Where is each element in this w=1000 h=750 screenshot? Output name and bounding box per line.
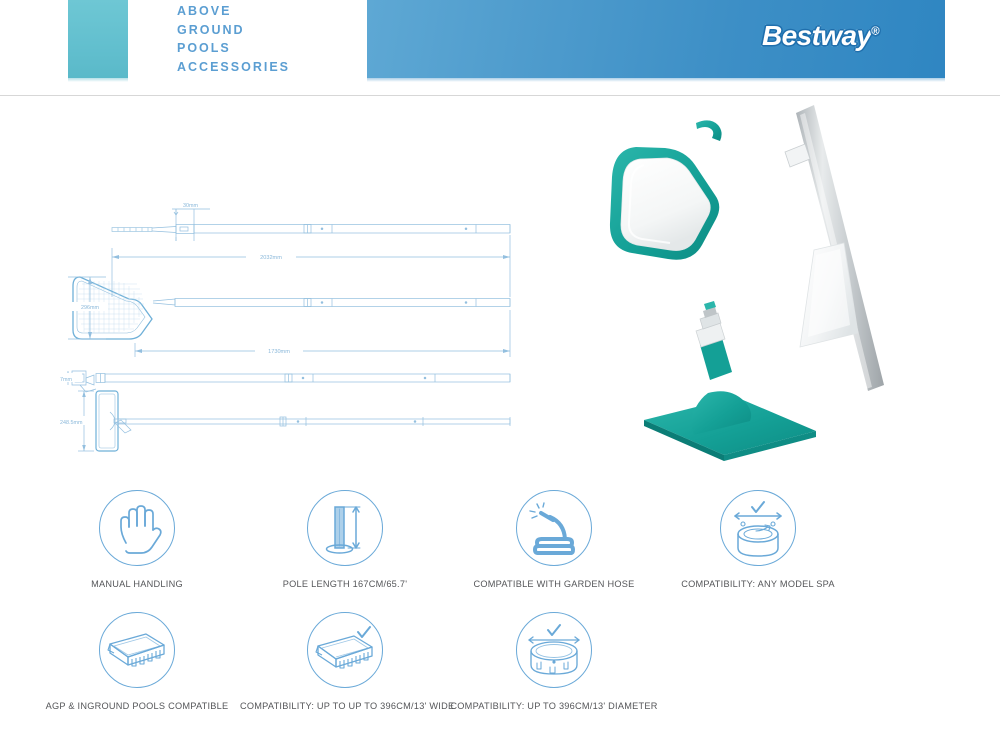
feature-pole-length: POLE LENGTH 167CM/65.7' — [240, 490, 450, 590]
product-spec-sheet: ABOVE GROUND POOLS ACCESSORIES Bestway® — [0, 0, 1000, 750]
spa-check-icon — [720, 490, 796, 566]
rectangular-pool-check-icon — [307, 612, 383, 688]
feature-spa-compatibility: COMPATIBILITY: ANY MODEL SPA — [653, 490, 863, 590]
dim-label-248-5mm: 248.5mm — [60, 420, 83, 426]
registered-trademark-icon: ® — [871, 26, 879, 38]
rectangular-pool-icon — [99, 612, 175, 688]
feature-caption: MANUAL HANDLING — [32, 578, 242, 590]
page-title-line-1: ABOVE — [177, 2, 357, 21]
feature-caption: COMPATIBLE WITH GARDEN HOSE — [449, 578, 659, 590]
feature-agp-inground-pools: AGP & INGROUND POOLS COMPATIBLE — [32, 612, 242, 712]
dim-label-30mm: 30mm — [183, 203, 198, 209]
feature-caption: COMPATIBILITY: UP TO 396CM/13' DIAMETER — [449, 700, 659, 712]
feature-caption: POLE LENGTH 167CM/65.7' — [240, 578, 450, 590]
page-title: ABOVE GROUND POOLS ACCESSORIES — [177, 2, 357, 76]
technical-drawing: 30mm 2032mm — [60, 185, 560, 465]
pole-length-icon — [307, 490, 383, 566]
garden-hose-icon — [516, 490, 592, 566]
vacuum-head-photo — [644, 301, 816, 461]
header-teal-band — [68, 0, 128, 78]
product-photo — [600, 95, 930, 485]
dim-label-2032mm: 2032mm — [260, 255, 282, 261]
feature-diameter-compatibility: COMPATIBILITY: UP TO 396CM/13' DIAMETER — [449, 612, 659, 712]
page-title-line-4: ACCESSORIES — [177, 58, 357, 77]
feature-width-compatibility: COMPATIBILITY: UP TO UP TO 396CM/13' WID… — [240, 612, 450, 712]
dim-label-1730mm: 1730mm — [268, 349, 290, 355]
dim-label-296mm: 296mm — [81, 305, 99, 311]
feature-manual-handling: MANUAL HANDLING — [32, 490, 242, 590]
bestway-logo: Bestway® — [762, 20, 879, 52]
page-title-line-3: POOLS — [177, 39, 357, 58]
round-pool-check-icon — [516, 612, 592, 688]
bestway-logo-text: Bestway — [762, 20, 871, 51]
skimmer-net-photo — [610, 120, 722, 259]
feature-caption: COMPATIBILITY: ANY MODEL SPA — [653, 578, 863, 590]
page-header: ABOVE GROUND POOLS ACCESSORIES Bestway® — [0, 0, 1000, 96]
page-title-line-2: GROUND — [177, 21, 357, 40]
hand-icon — [99, 490, 175, 566]
feature-icon-grid: MANUAL HANDLING — [0, 490, 1000, 725]
feature-garden-hose: COMPATIBLE WITH GARDEN HOSE — [449, 490, 659, 590]
feature-caption: COMPATIBILITY: UP TO UP TO 396CM/13' WID… — [240, 700, 450, 712]
feature-caption: AGP & INGROUND POOLS COMPATIBLE — [32, 700, 242, 712]
dim-label-7mm: 7mm — [60, 377, 72, 383]
